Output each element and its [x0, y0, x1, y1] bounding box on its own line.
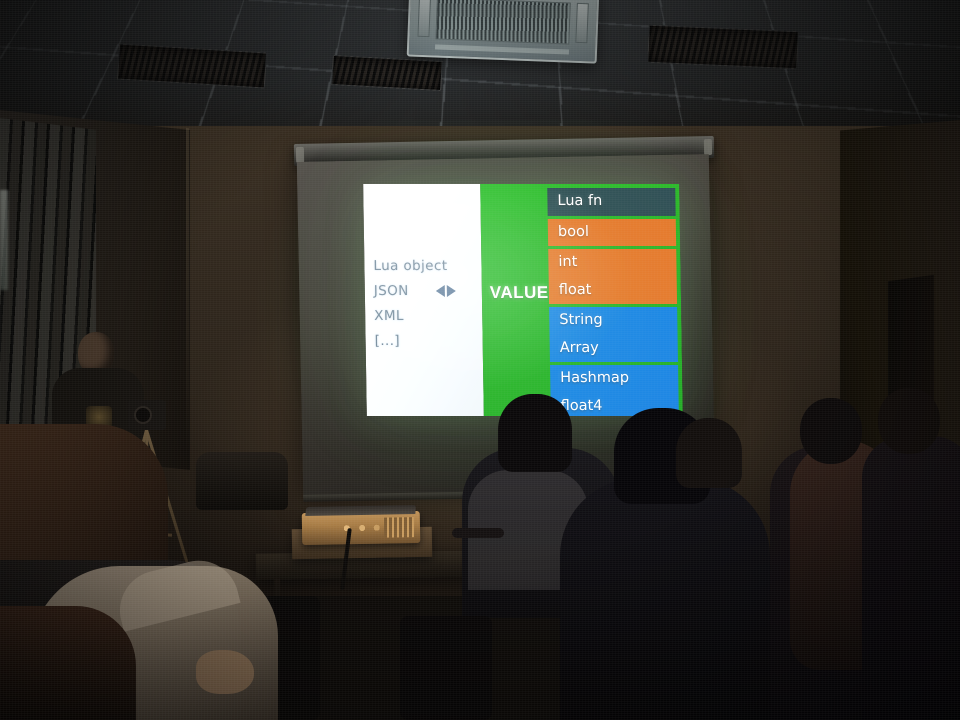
camera-lens-icon — [134, 406, 152, 424]
type-box-lua-fn: Lua fn — [547, 188, 675, 215]
audience-hair — [0, 606, 136, 720]
presentation-photo-scene: Lua object JSON XML [...] VALUE Lua fn b… — [0, 0, 960, 720]
type-box-int: int — [548, 249, 676, 276]
audience-head — [676, 418, 742, 488]
audience-hand — [196, 650, 254, 694]
type-box-string: String — [549, 307, 677, 334]
projector-vent-fins — [384, 517, 414, 538]
type-box-hashmap: Hashmap — [550, 365, 678, 392]
window-light-glow — [0, 190, 8, 290]
slide-right-panel: VALUE Lua fn bool int float String Array… — [480, 184, 683, 416]
audience-head — [800, 398, 862, 464]
wall-corner-edge — [186, 128, 189, 458]
bidirectional-arrows — [436, 285, 456, 297]
slide-content: Lua object JSON XML [...] VALUE Lua fn b… — [363, 184, 683, 416]
list-item: [...] — [374, 333, 448, 349]
serialization-format-list: Lua object JSON XML [...] — [373, 258, 448, 349]
roller-end-cap — [704, 139, 712, 155]
audience-head — [878, 388, 940, 454]
audience-body — [862, 436, 960, 720]
projector-top — [305, 505, 416, 516]
projected-slide: Lua object JSON XML [...] VALUE Lua fn b… — [363, 184, 683, 416]
value-label: VALUE — [490, 283, 549, 303]
projector-ports — [338, 521, 382, 536]
desk-projector — [302, 511, 421, 545]
type-box-bool: bool — [548, 219, 676, 246]
list-item: Lua object — [373, 258, 447, 274]
type-box-array: Array — [550, 334, 678, 361]
roller-end-cap — [296, 147, 304, 163]
type-box-float: float — [549, 277, 677, 304]
chair-armrest — [452, 528, 504, 538]
right-triangle-icon — [447, 285, 456, 297]
slide-left-panel: Lua object JSON XML [...] — [363, 184, 484, 416]
audience-body — [560, 478, 770, 720]
equipment-bag — [196, 452, 288, 510]
list-item: XML — [374, 308, 448, 324]
type-list: Lua fn bool int float String Array Hashm… — [547, 188, 679, 416]
audience-head — [498, 394, 572, 472]
left-triangle-icon — [436, 285, 445, 297]
chair-back — [400, 616, 492, 720]
